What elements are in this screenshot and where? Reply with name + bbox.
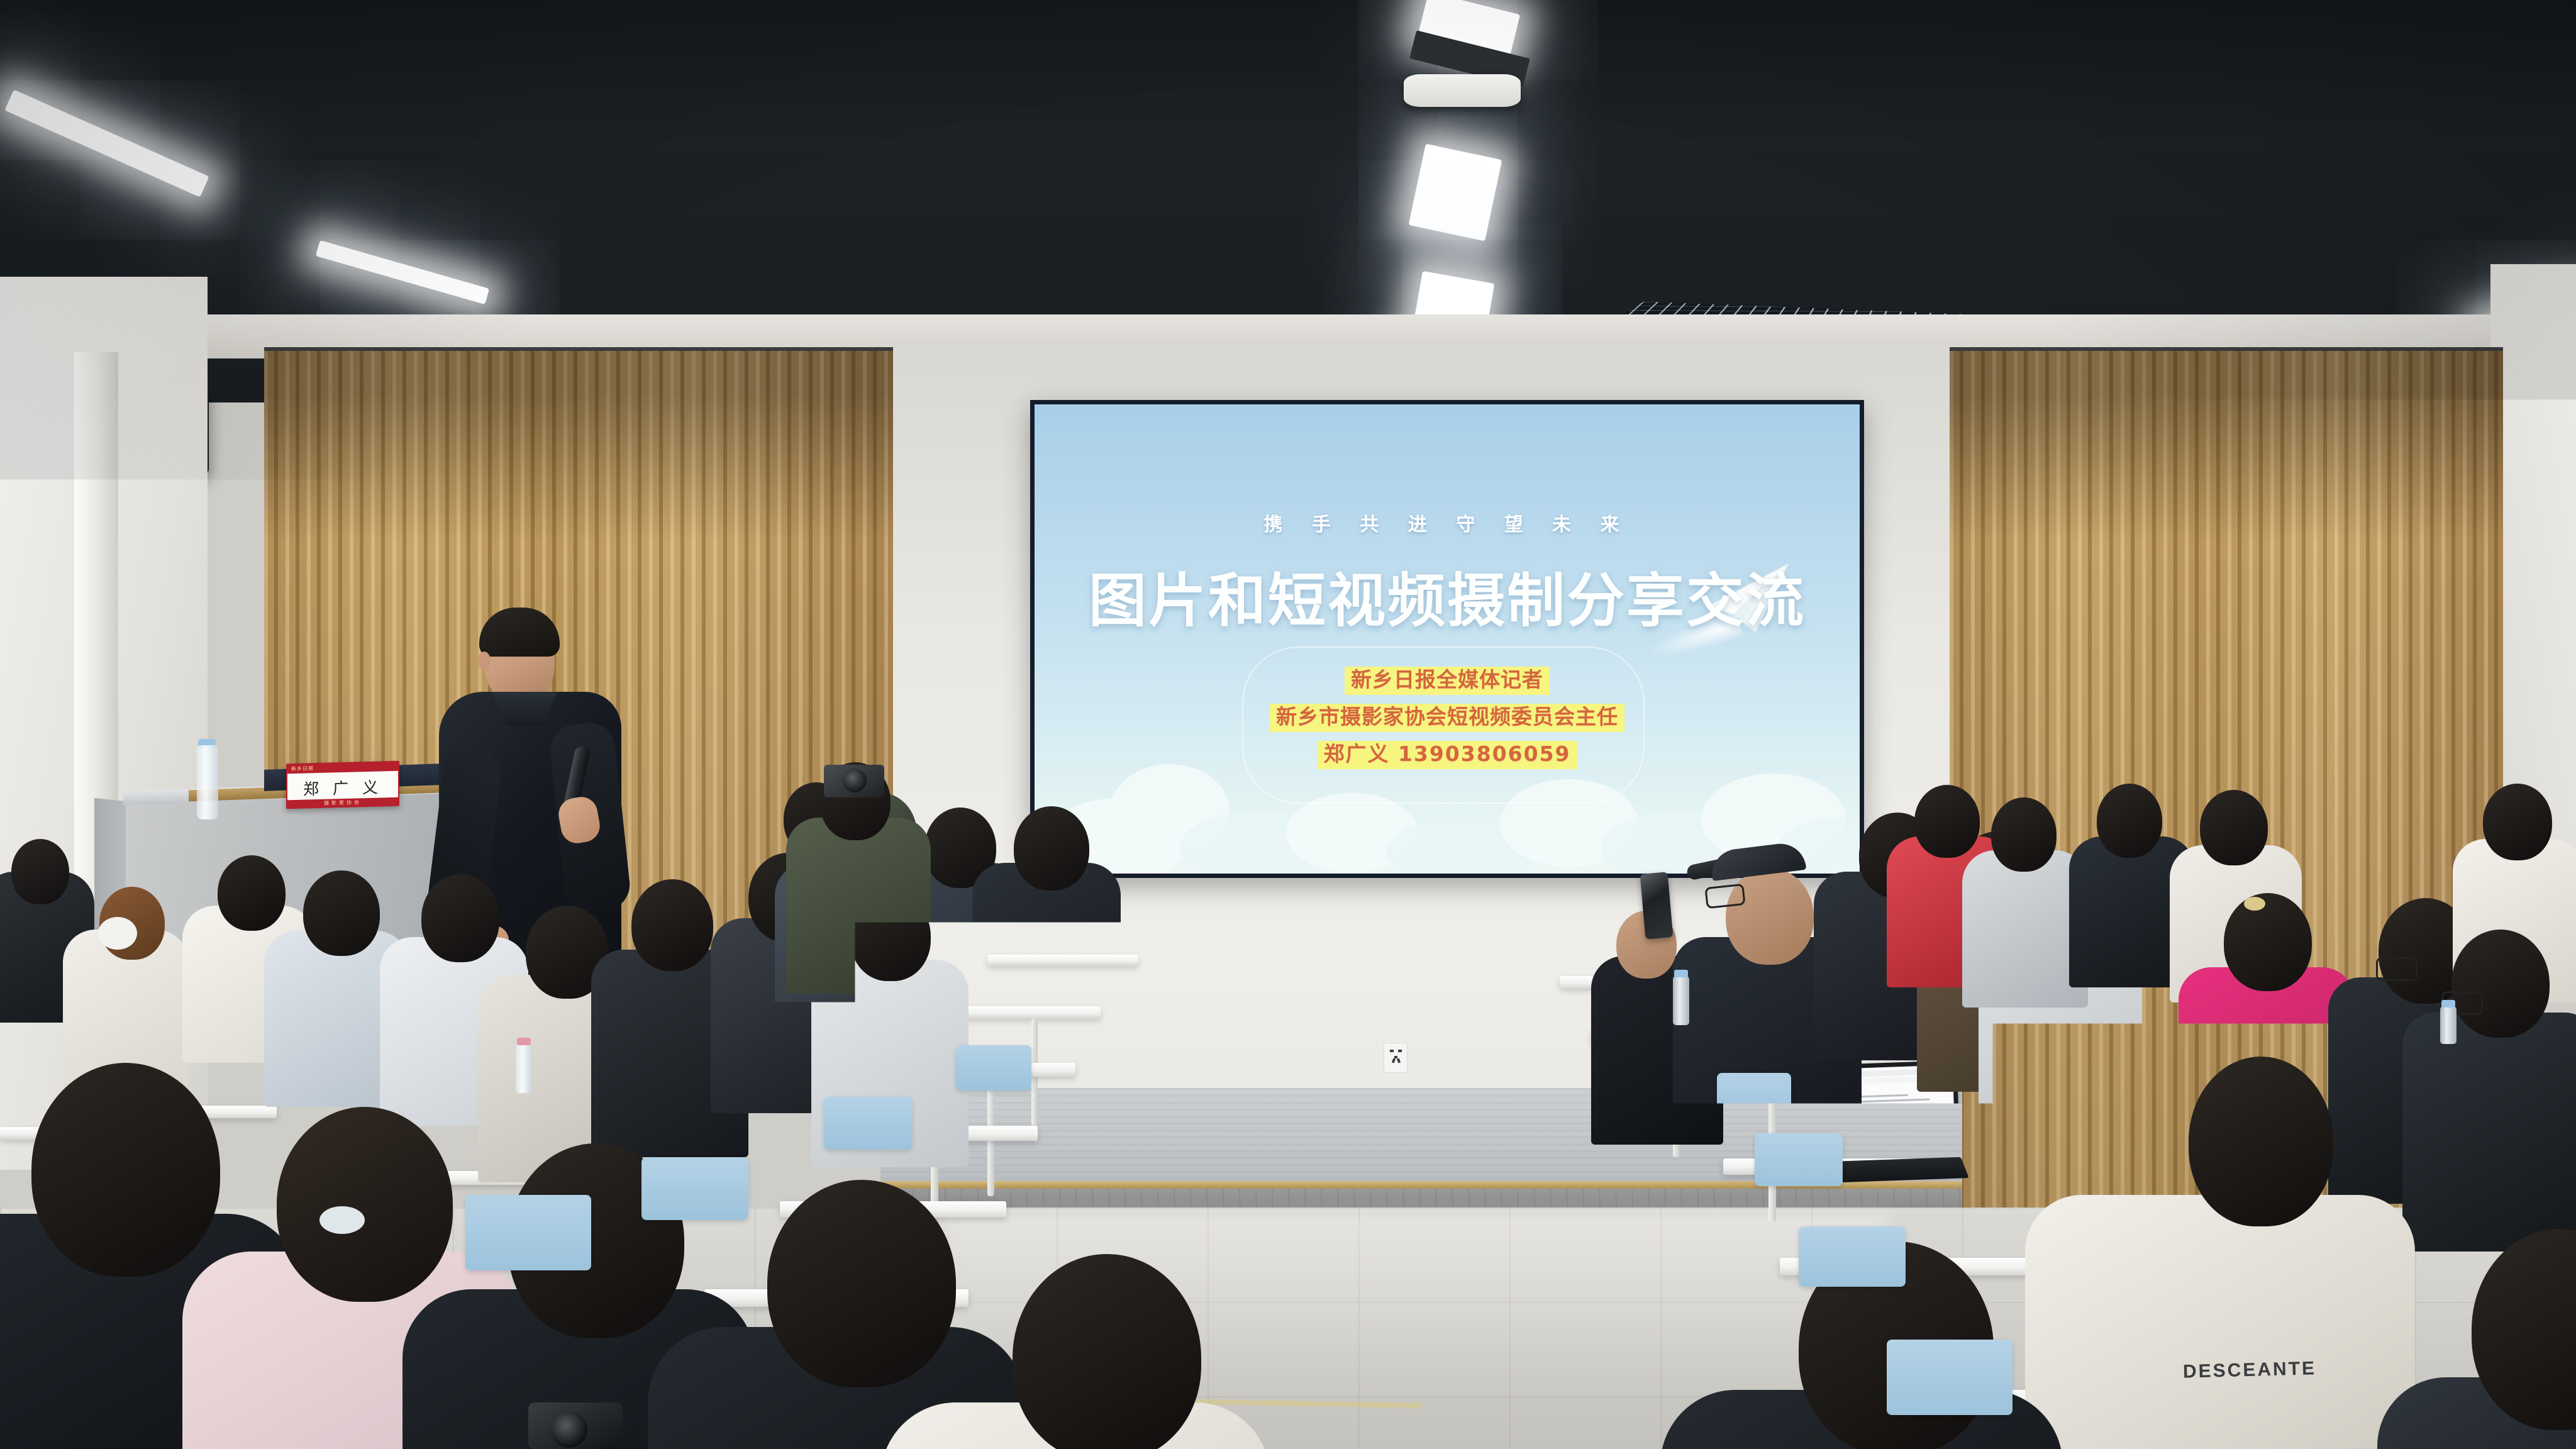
placard-white-panel: 郑 广 义 [287, 771, 398, 801]
projection-screen: 携 手 共 进 守 望 未 来 图片和短视频摄制分享交流 新乡日报全媒体记者 新… [1035, 404, 1860, 874]
slide-credit-block: 新乡日报全媒体记者 新乡市摄影家协会短视频委员会主任 郑广义 139038060… [1035, 662, 1860, 774]
chair[interactable] [824, 1097, 912, 1150]
eyeglasses [2376, 957, 2418, 981]
chair[interactable] [465, 1195, 591, 1270]
placard-top-text: 新乡日报 [291, 765, 314, 772]
chair[interactable] [1717, 1073, 1791, 1117]
chair[interactable] [956, 1045, 1031, 1091]
smartphone[interactable] [1640, 872, 1674, 939]
water-bottle-podium[interactable] [197, 745, 218, 819]
chair[interactable] [1799, 1226, 1906, 1287]
wifi-access-point [1404, 74, 1521, 107]
slide-credit-line-2: 新乡市摄影家协会短视频委员会主任 [1270, 704, 1624, 732]
presenter-ear [478, 652, 491, 670]
placard-name: 郑 广 义 [287, 775, 398, 801]
name-placard: 新乡日报 郑 广 义 摄影家协会 [286, 761, 399, 809]
water-bottle[interactable] [2440, 1006, 2457, 1044]
camera-lens-icon [843, 769, 867, 792]
slide-subtitle: 携 手 共 进 守 望 未 来 [1035, 509, 1860, 536]
water-bottle[interactable] [1673, 976, 1689, 1025]
camera-lens-icon [551, 1411, 587, 1448]
hair-tie [319, 1206, 365, 1234]
lecture-hall-photo: 携 手 共 进 守 望 未 来 图片和短视频摄制分享交流 新乡日报全媒体记者 新… [0, 0, 2576, 1449]
power-outlet[interactable] [1384, 1043, 1407, 1073]
chair[interactable] [1887, 1340, 2012, 1415]
chair[interactable] [641, 1157, 748, 1220]
slide-title: 图片和短视频摄制分享交流 [1035, 554, 1860, 638]
hair-clip [2244, 897, 2265, 911]
presenter-hair [479, 608, 560, 657]
slide-credit-line-1: 新乡日报全媒体记者 [1345, 667, 1550, 695]
projection-screen-frame: 携 手 共 进 守 望 未 来 图片和短视频摄制分享交流 新乡日报全媒体记者 新… [1030, 400, 1864, 878]
chair[interactable] [2012, 1082, 2094, 1126]
eyeglasses [1704, 884, 1745, 909]
water-bottle[interactable] [516, 1044, 532, 1093]
chair[interactable] [1755, 1133, 1843, 1186]
slide-credit-line-3: 郑广义 13903806059 [1317, 741, 1577, 769]
